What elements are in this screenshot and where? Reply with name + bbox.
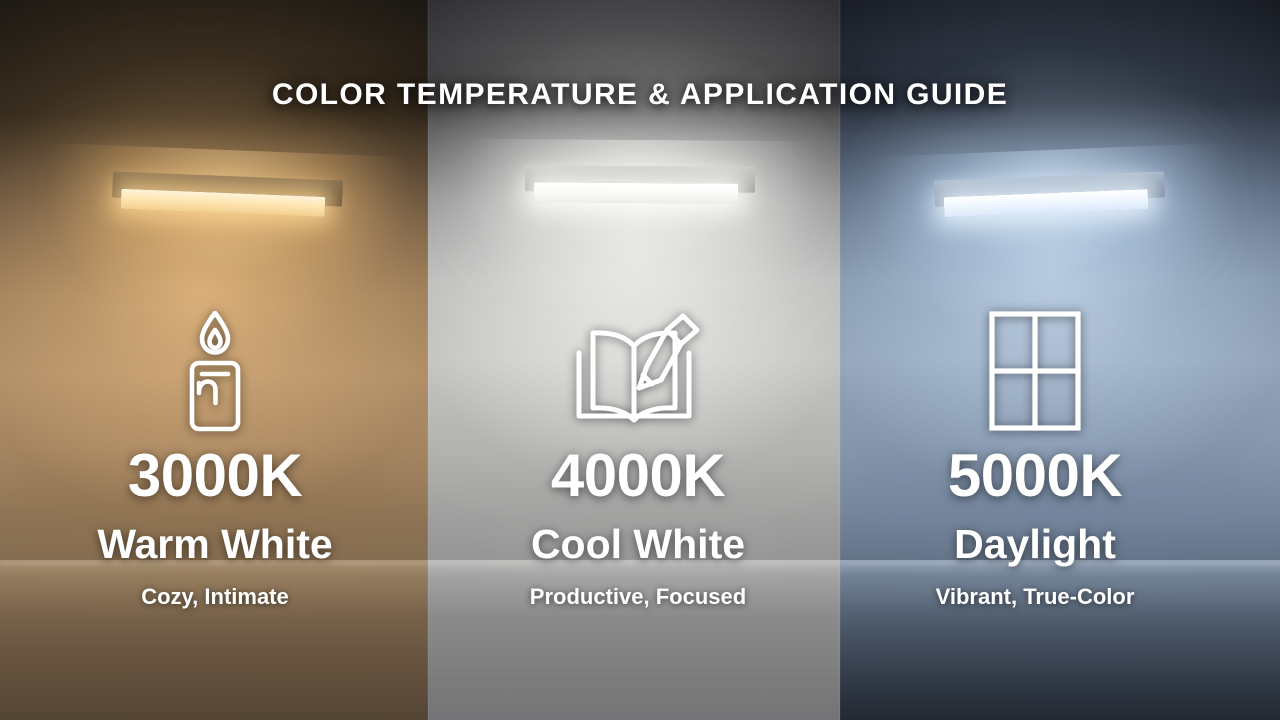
- temperature-name-cool: Cool White: [488, 524, 788, 565]
- mood-description-warm: Cozy, Intimate: [60, 586, 370, 608]
- color-temperature-guide: COLOR TEMPERATURE & APPLICATION GUIDE 30…: [0, 0, 1280, 720]
- mood-description-cool: Productive, Focused: [488, 586, 788, 608]
- kelvin-value-warm: 3000K: [60, 446, 370, 506]
- fixture-lens-cool: [534, 182, 738, 203]
- caption-group-cool-white: 4000K Cool White Productive, Focused: [488, 296, 788, 608]
- kelvin-value-daylight: 5000K: [885, 446, 1185, 506]
- kelvin-value-cool: 4000K: [488, 446, 788, 506]
- caption-group-daylight: 5000K Daylight Vibrant, True-Color: [885, 296, 1185, 608]
- temperature-name-daylight: Daylight: [885, 524, 1185, 565]
- page-title: COLOR TEMPERATURE & APPLICATION GUIDE: [0, 78, 1280, 112]
- temperature-name-warm: Warm White: [60, 524, 370, 565]
- open-book-with-pencil-icon: [488, 296, 788, 446]
- window-icon: [885, 296, 1185, 446]
- caption-group-warm-white: 3000K Warm White Cozy, Intimate: [60, 296, 370, 608]
- linear-led-fixture-daylight: [934, 171, 1166, 232]
- linear-led-fixture-cool: [525, 165, 755, 219]
- mood-description-daylight: Vibrant, True-Color: [885, 586, 1185, 608]
- linear-led-fixture-warm: [111, 171, 343, 232]
- candle-icon: [60, 296, 370, 446]
